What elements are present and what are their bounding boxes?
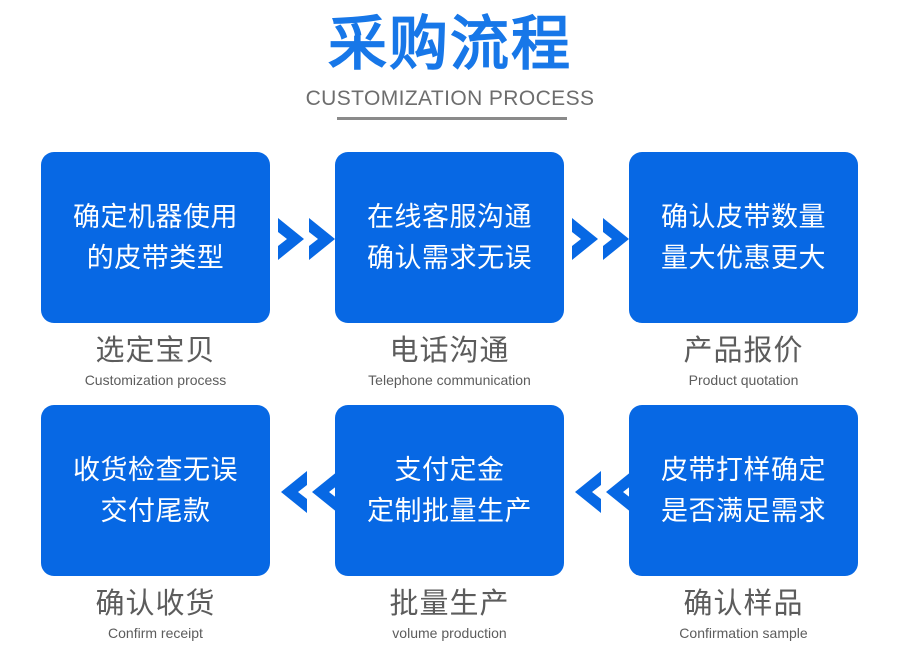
process-step-1[interactable]: 确定机器使用 的皮带类型 选定宝贝 Customization process	[41, 140, 270, 398]
step-box-line: 量大优惠更大	[661, 238, 826, 279]
step-box-1[interactable]: 确定机器使用 的皮带类型	[41, 152, 270, 323]
step-box-line: 支付定金	[395, 450, 505, 491]
double-chevron-left-icon	[570, 469, 634, 515]
process-row-1: 确定机器使用 的皮带类型 选定宝贝 Customization process …	[0, 140, 900, 398]
step-box-5[interactable]: 支付定金 定制批量生产	[335, 405, 564, 576]
process-row-2: 收货检查无误 交付尾款 确认收货 Confirm receipt 支付定金 定制…	[0, 393, 900, 651]
step-box-line: 定制批量生产	[367, 491, 532, 532]
step-box-line: 确认皮带数量	[661, 197, 826, 238]
step-caption-cn: 产品报价	[629, 332, 858, 368]
step-box-line: 的皮带类型	[87, 238, 225, 279]
step-box-line: 交付尾款	[101, 491, 211, 532]
step-caption-en: Confirmation sample	[629, 624, 858, 642]
double-chevron-right-icon	[276, 216, 340, 262]
step-caption-en: volume production	[335, 624, 564, 642]
step-box-2[interactable]: 在线客服沟通 确认需求无误	[335, 152, 564, 323]
step-box-line: 是否满足需求	[661, 491, 826, 532]
page-title: 采购流程	[0, 12, 900, 76]
process-step-5[interactable]: 支付定金 定制批量生产 批量生产 volume production	[335, 393, 564, 651]
step-box-line: 在线客服沟通	[367, 197, 532, 238]
step-box-line: 皮带打样确定	[661, 450, 826, 491]
process-step-2[interactable]: 在线客服沟通 确认需求无误 电话沟通 Telephone communicati…	[335, 140, 564, 398]
step-caption-cn: 确认收货	[41, 585, 270, 621]
step-box-4[interactable]: 皮带打样确定 是否满足需求	[629, 405, 858, 576]
step-caption-cn: 确认样品	[629, 585, 858, 621]
step-caption-en: Telephone communication	[335, 371, 564, 389]
step-box-6[interactable]: 收货检查无误 交付尾款	[41, 405, 270, 576]
step-box-3[interactable]: 确认皮带数量 量大优惠更大	[629, 152, 858, 323]
title-divider	[337, 117, 567, 120]
page-subtitle: CUSTOMIZATION PROCESS	[0, 86, 900, 111]
process-step-4[interactable]: 皮带打样确定 是否满足需求 确认样品 Confirmation sample	[629, 393, 858, 651]
step-caption-en: Product quotation	[629, 371, 858, 389]
step-caption-en: Customization process	[41, 371, 270, 389]
step-caption-en: Confirm receipt	[41, 624, 270, 642]
process-flow: 确定机器使用 的皮带类型 选定宝贝 Customization process …	[0, 132, 900, 668]
step-caption-cn: 选定宝贝	[41, 332, 270, 368]
step-box-line: 确定机器使用	[73, 197, 238, 238]
step-box-line: 确认需求无误	[367, 238, 532, 279]
step-box-line: 收货检查无误	[73, 450, 238, 491]
step-caption-cn: 电话沟通	[335, 332, 564, 368]
process-step-3[interactable]: 确认皮带数量 量大优惠更大 产品报价 Product quotation	[629, 140, 858, 398]
double-chevron-left-icon	[276, 469, 340, 515]
page-header: 采购流程 CUSTOMIZATION PROCESS	[0, 0, 900, 132]
process-step-6[interactable]: 收货检查无误 交付尾款 确认收货 Confirm receipt	[41, 393, 270, 651]
double-chevron-right-icon	[570, 216, 634, 262]
step-caption-cn: 批量生产	[335, 585, 564, 621]
